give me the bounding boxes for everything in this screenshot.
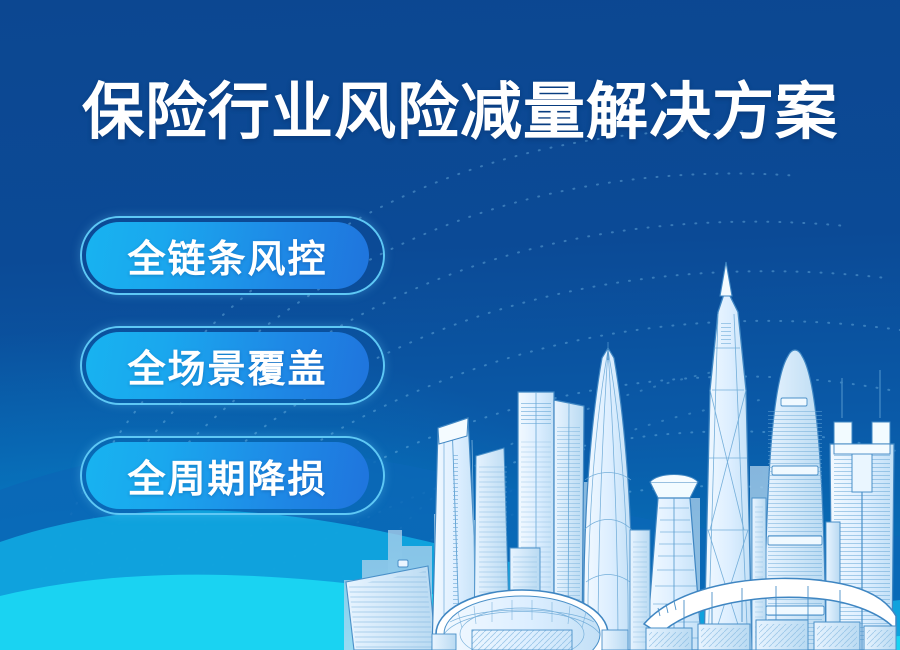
pill-fill: 全周期降损 [86, 442, 369, 509]
feature-pill-label: 全链条风控 [127, 228, 327, 283]
feature-pill-label: 全周期降损 [127, 448, 327, 503]
page-title: 保险行业风险减量解决方案 [82, 82, 838, 144]
pill-fill: 全链条风控 [86, 222, 369, 289]
poster-root: 保险行业风险减量解决方案 全链条风控 全场景覆盖 全周期降损 [0, 0, 900, 650]
feature-pill-list: 全链条风控 全场景覆盖 全周期降损 [80, 216, 385, 515]
feature-pill-1[interactable]: 全链条风控 [80, 216, 385, 295]
city-skyline-illustration [340, 230, 900, 650]
feature-pill-3[interactable]: 全周期降损 [80, 436, 385, 515]
pill-fill: 全场景覆盖 [86, 332, 369, 399]
feature-pill-2[interactable]: 全场景覆盖 [80, 326, 385, 405]
feature-pill-label: 全场景覆盖 [127, 338, 327, 393]
